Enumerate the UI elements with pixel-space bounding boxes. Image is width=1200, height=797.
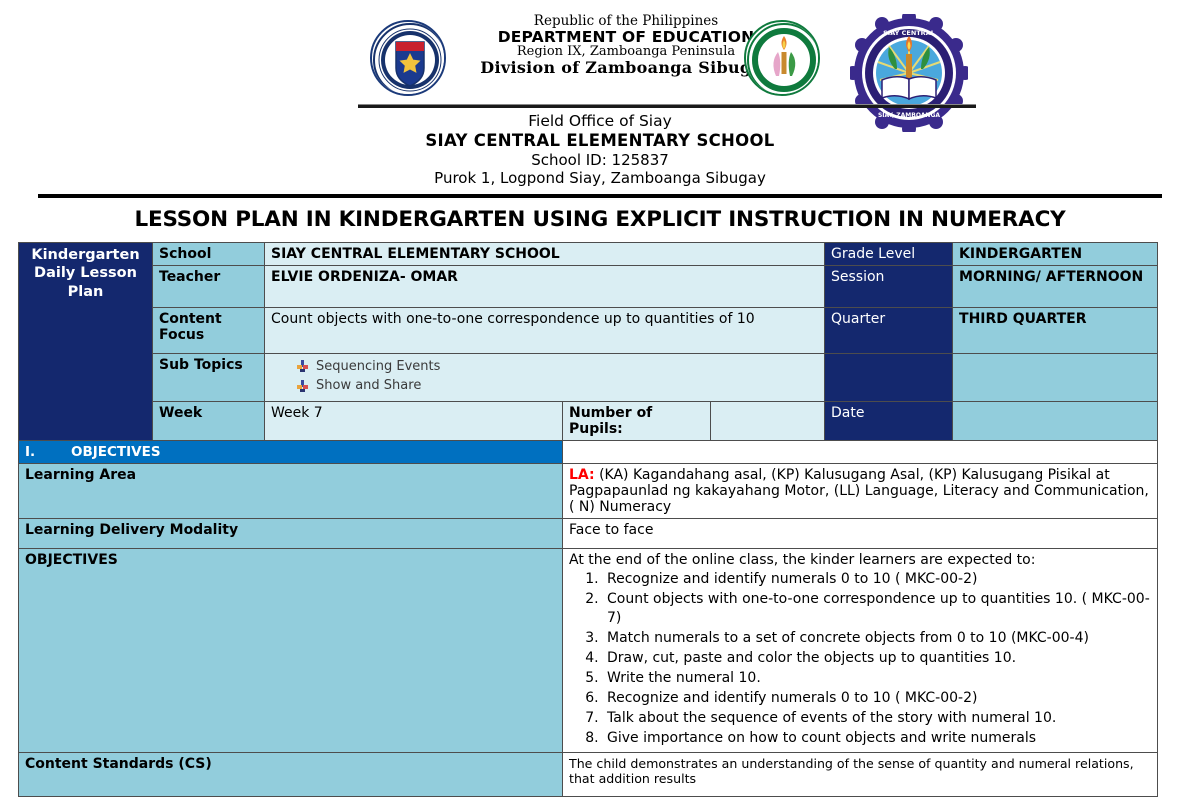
sub-topic-label: Sequencing Events — [316, 357, 440, 377]
section-heading-label: OBJECTIVES — [71, 444, 161, 460]
sub-topics-list: Sequencing Events Show and Share — [271, 357, 818, 396]
session-value-cell: MORNING/ AFTERNOON — [953, 265, 1158, 307]
sub-topics-value-cell: Sequencing Events Show and Share — [265, 353, 825, 401]
letterhead-text-panel: Republic of the Philippines DEPARTMENT O… — [358, 12, 828, 104]
quarter-label-cell: Quarter — [825, 307, 953, 353]
table-row-objectives-header: I.OBJECTIVES — [19, 440, 1158, 463]
daily-lesson-plan-title: Kindergarten Daily Lesson Plan — [19, 242, 153, 440]
teacher-label-cell: Teacher — [153, 265, 265, 307]
number-of-pupils-value-cell — [711, 401, 825, 440]
list-item: Talk about the sequence of events of the… — [603, 709, 1151, 729]
svg-text:SIAY, ZAMBOANGA: SIAY, ZAMBOANGA — [878, 112, 940, 119]
list-item: Recognize and identify numerals 0 to 10 … — [603, 689, 1151, 709]
list-item: Write the numeral 10. — [603, 669, 1151, 689]
session-label-cell: Session — [825, 265, 953, 307]
table-row-modality: Learning Delivery Modality Face to face — [19, 518, 1158, 548]
table-row-week: Week Week 7 Number of Pupils: Date — [19, 401, 1158, 440]
date-value-cell — [953, 401, 1158, 440]
section-numeral: I. — [25, 444, 71, 460]
grade-level-label-cell: Grade Level — [825, 242, 953, 265]
quarter-value-spacer-cell — [953, 353, 1158, 401]
list-item: Recognize and identify numerals 0 to 10 … — [603, 570, 1151, 590]
week-value-cell: Week 7 — [265, 401, 563, 440]
learning-area-value-cell: LA: (KA) Kagandahang asal, (KP) Kalusuga… — [563, 463, 1158, 518]
arrow-bullet-icon — [297, 380, 308, 392]
table-row-school: Kindergarten Daily Lesson Plan School SI… — [19, 242, 1158, 265]
letterhead-line-3: Region IX, Zamboanga Peninsula — [466, 45, 786, 59]
school-id-label: School ID: 125837 — [0, 151, 1200, 169]
letterhead-box: Republic of the Philippines DEPARTMENT O… — [358, 12, 976, 107]
deped-seal-icon — [370, 20, 446, 96]
school-label-cell: School — [153, 242, 265, 265]
school-address-label: Purok 1, Logpond Siay, Zamboanga Sibugay — [0, 169, 1200, 187]
content-focus-value-cell: Count objects with one-to-one correspond… — [265, 307, 825, 353]
objectives-intro: At the end of the online class, the kind… — [569, 552, 1151, 568]
list-item: Show and Share — [297, 376, 818, 396]
letterhead-divider — [358, 104, 976, 108]
date-label-cell: Date — [825, 401, 953, 440]
quarter-spacer-cell — [825, 353, 953, 401]
number-of-pupils-label-cell: Number of Pupils: — [563, 401, 711, 440]
sub-topic-label: Show and Share — [316, 376, 421, 396]
modality-value-cell: Face to face — [563, 518, 1158, 548]
table-row-sub-topics: Sub Topics Sequencing Events Show and Sh… — [19, 353, 1158, 401]
region-ix-seal-icon — [744, 20, 820, 96]
table-row-objectives-list: OBJECTIVES At the end of the online clas… — [19, 548, 1158, 752]
list-item: Give importance on how to count objects … — [603, 729, 1151, 749]
school-heading: Field Office of Siay SIAY CENTRAL ELEMEN… — [0, 112, 1200, 188]
table-row-content-focus: Content Focus Count objects with one-to-… — [19, 307, 1158, 353]
list-item: Sequencing Events — [297, 357, 818, 377]
letterhead-text: Republic of the Philippines DEPARTMENT O… — [466, 14, 786, 77]
table-row-teacher: Teacher ELVIE ORDENIZA- OMAR Session MOR… — [19, 265, 1158, 307]
list-item: Match numerals to a set of concrete obje… — [603, 629, 1151, 649]
learning-area-text: (KA) Kagandahang asal, (KP) Kalusugang A… — [569, 467, 1149, 515]
content-standards-value-cell: The child demonstrates an understanding … — [563, 752, 1158, 796]
school-name-label: SIAY CENTRAL ELEMENTARY SCHOOL — [0, 131, 1200, 151]
letterhead-line-1: Republic of the Philippines — [466, 14, 786, 29]
content-standards-label-cell: Content Standards (CS) — [19, 752, 563, 796]
page-title: LESSON PLAN IN KINDERGARTEN USING EXPLIC… — [0, 207, 1200, 232]
list-item: Draw, cut, paste and color the objects u… — [603, 649, 1151, 669]
table-row-learning-area: Learning Area LA: (KA) Kagandahang asal,… — [19, 463, 1158, 518]
title-divider — [38, 194, 1162, 198]
objectives-ordered-list: Recognize and identify numerals 0 to 10 … — [569, 570, 1151, 749]
teacher-value-cell: ELVIE ORDENIZA- OMAR — [265, 265, 825, 307]
sub-topics-label-cell: Sub Topics — [153, 353, 265, 401]
field-office-label: Field Office of Siay — [0, 112, 1200, 131]
letterhead-line-4: Division of Zamboanga Sibugay — [466, 59, 786, 76]
learning-area-prefix: LA: — [569, 467, 595, 483]
arrow-bullet-icon — [297, 360, 308, 372]
list-item: Count objects with one-to-one correspond… — [603, 590, 1151, 630]
svg-text:SIAY CENTRAL: SIAY CENTRAL — [883, 29, 935, 37]
quarter-value-cell: THIRD QUARTER — [953, 307, 1158, 353]
grade-level-value-cell: KINDERGARTEN — [953, 242, 1158, 265]
letterhead-line-2: DEPARTMENT OF EDUCATION — [466, 29, 786, 46]
week-label-cell: Week — [153, 401, 265, 440]
modality-label-cell: Learning Delivery Modality — [19, 518, 563, 548]
objectives-section-heading: I.OBJECTIVES — [19, 440, 563, 463]
objectives-label-cell: OBJECTIVES — [19, 548, 563, 752]
letterhead: Republic of the Philippines DEPARTMENT O… — [0, 0, 1200, 108]
lesson-plan-table: Kindergarten Daily Lesson Plan School SI… — [18, 242, 1158, 797]
table-row-content-standards: Content Standards (CS) The child demonst… — [19, 752, 1158, 796]
learning-area-label-cell: Learning Area — [19, 463, 563, 518]
objectives-header-blank — [563, 440, 1158, 463]
school-value-cell: SIAY CENTRAL ELEMENTARY SCHOOL — [265, 242, 825, 265]
content-focus-label-cell: Content Focus — [153, 307, 265, 353]
objectives-value-cell: At the end of the online class, the kind… — [563, 548, 1158, 752]
siay-central-elementary-school-seal-icon: SIAY CENTRAL SIAY, ZAMBOANGA — [850, 14, 968, 132]
